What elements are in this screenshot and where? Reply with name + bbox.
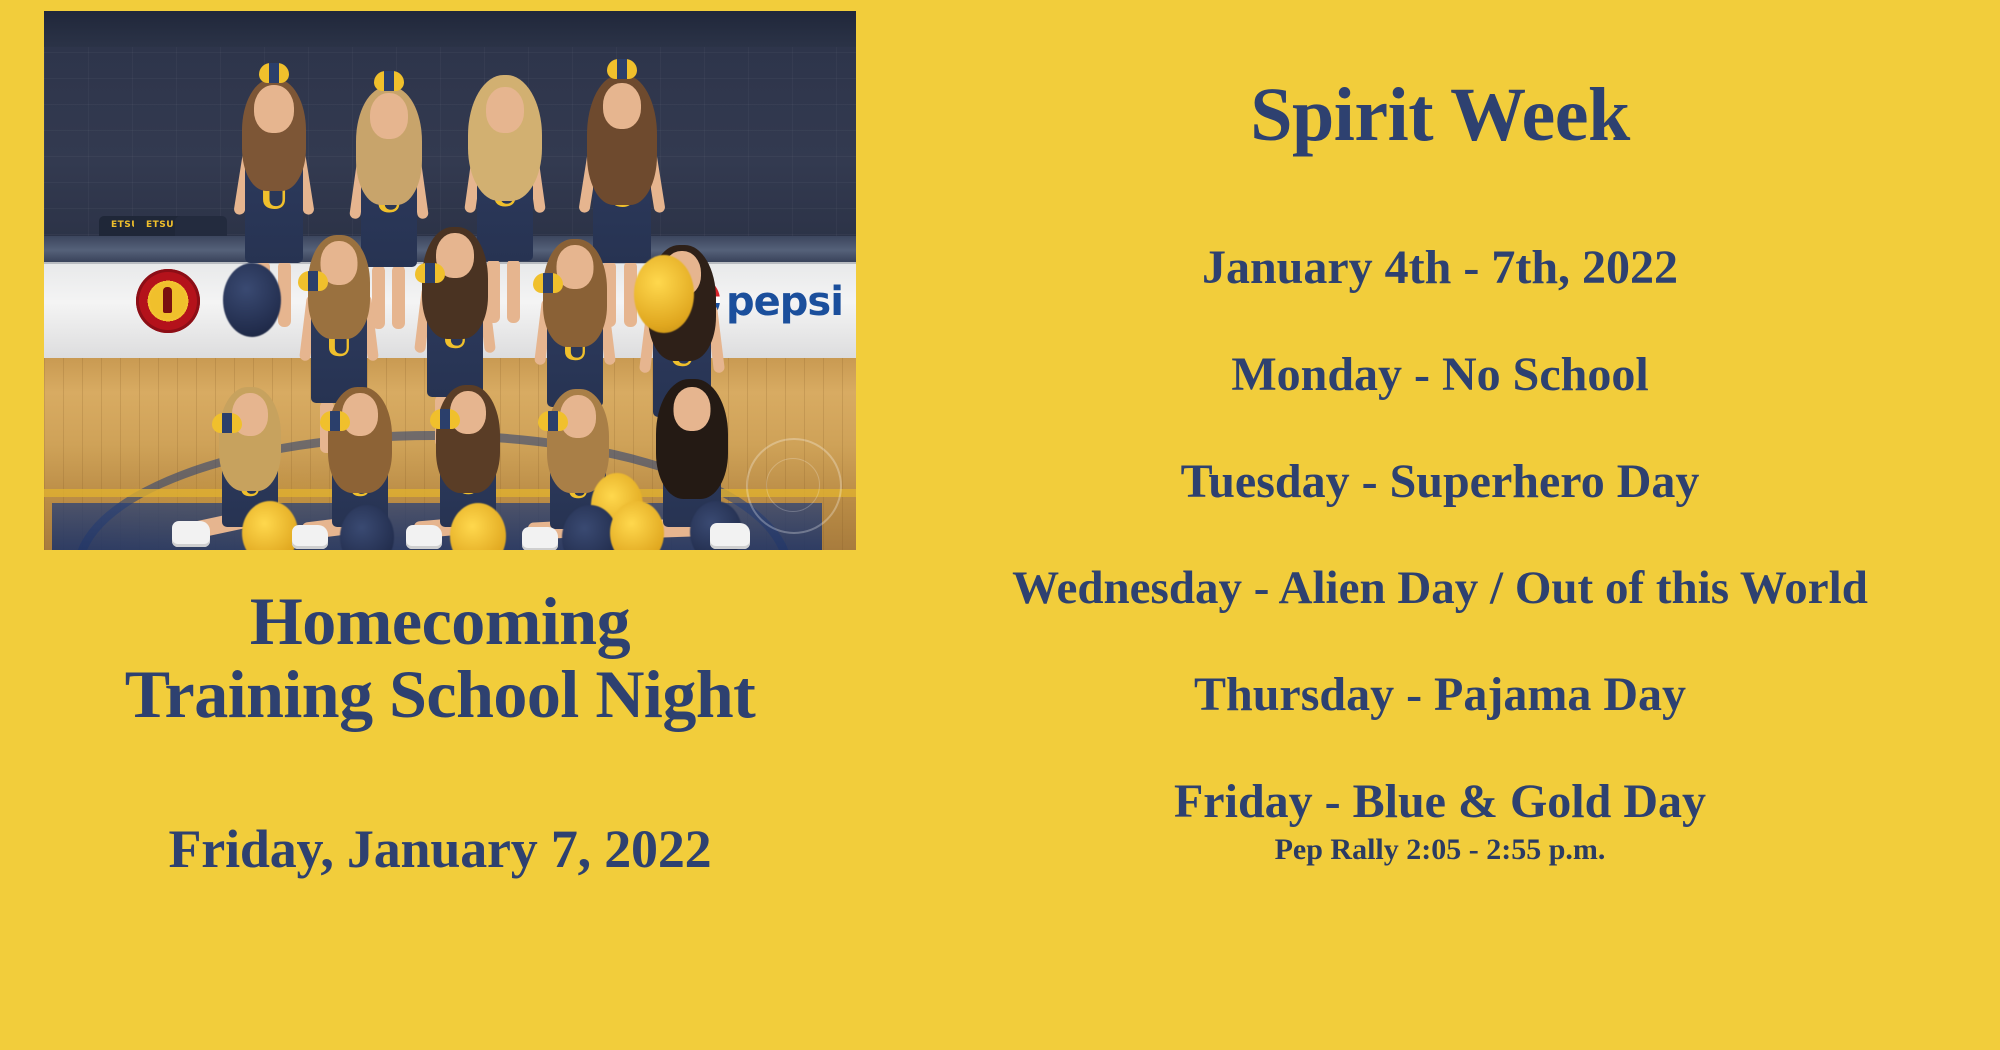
cheerleader-figure: U: [204, 383, 296, 550]
schedule-item-friday: Friday - Blue & Gold Day: [880, 774, 2000, 829]
gym-ceiling-shadow: [44, 11, 856, 47]
homecoming-heading-line1: Homecoming: [250, 583, 630, 659]
homecoming-date: Friday, January 7, 2022: [0, 818, 880, 880]
schedule-item-wednesday: Wednesday - Alien Day / Out of this Worl…: [880, 561, 2000, 615]
schedule-item-monday: Monday - No School: [880, 347, 2000, 402]
spirit-week-schedule-list: January 4th - 7th, 2022 Monday - No Scho…: [880, 240, 2000, 867]
homecoming-heading: Homecoming Training School Night: [0, 585, 880, 732]
spirit-week-title: Spirit Week: [880, 72, 2000, 159]
schedule-item-tuesday: Tuesday - Superhero Day: [880, 454, 2000, 509]
homecoming-heading-line2: Training School Night: [0, 658, 880, 731]
spirit-week-flyer: ETSU ETSU pepsi U: [0, 0, 2000, 1050]
cheerleading-team-photo: ETSU ETSU pepsi U: [44, 11, 856, 550]
photographer-watermark: [746, 438, 842, 534]
schedule-item-date: January 4th - 7th, 2022: [880, 240, 2000, 295]
pepsi-wordmark: pepsi: [726, 279, 843, 325]
right-column: Spirit Week January 4th - 7th, 2022 Mond…: [880, 0, 2000, 1050]
pep-rally-note: Pep Rally 2:05 - 2:55 p.m.: [880, 833, 2000, 867]
chicken-salad-chick-figure-icon: [163, 287, 172, 313]
schedule-item-thursday: Thursday - Pajama Day: [880, 667, 2000, 722]
left-column: ETSU ETSU pepsi U: [0, 0, 880, 1050]
